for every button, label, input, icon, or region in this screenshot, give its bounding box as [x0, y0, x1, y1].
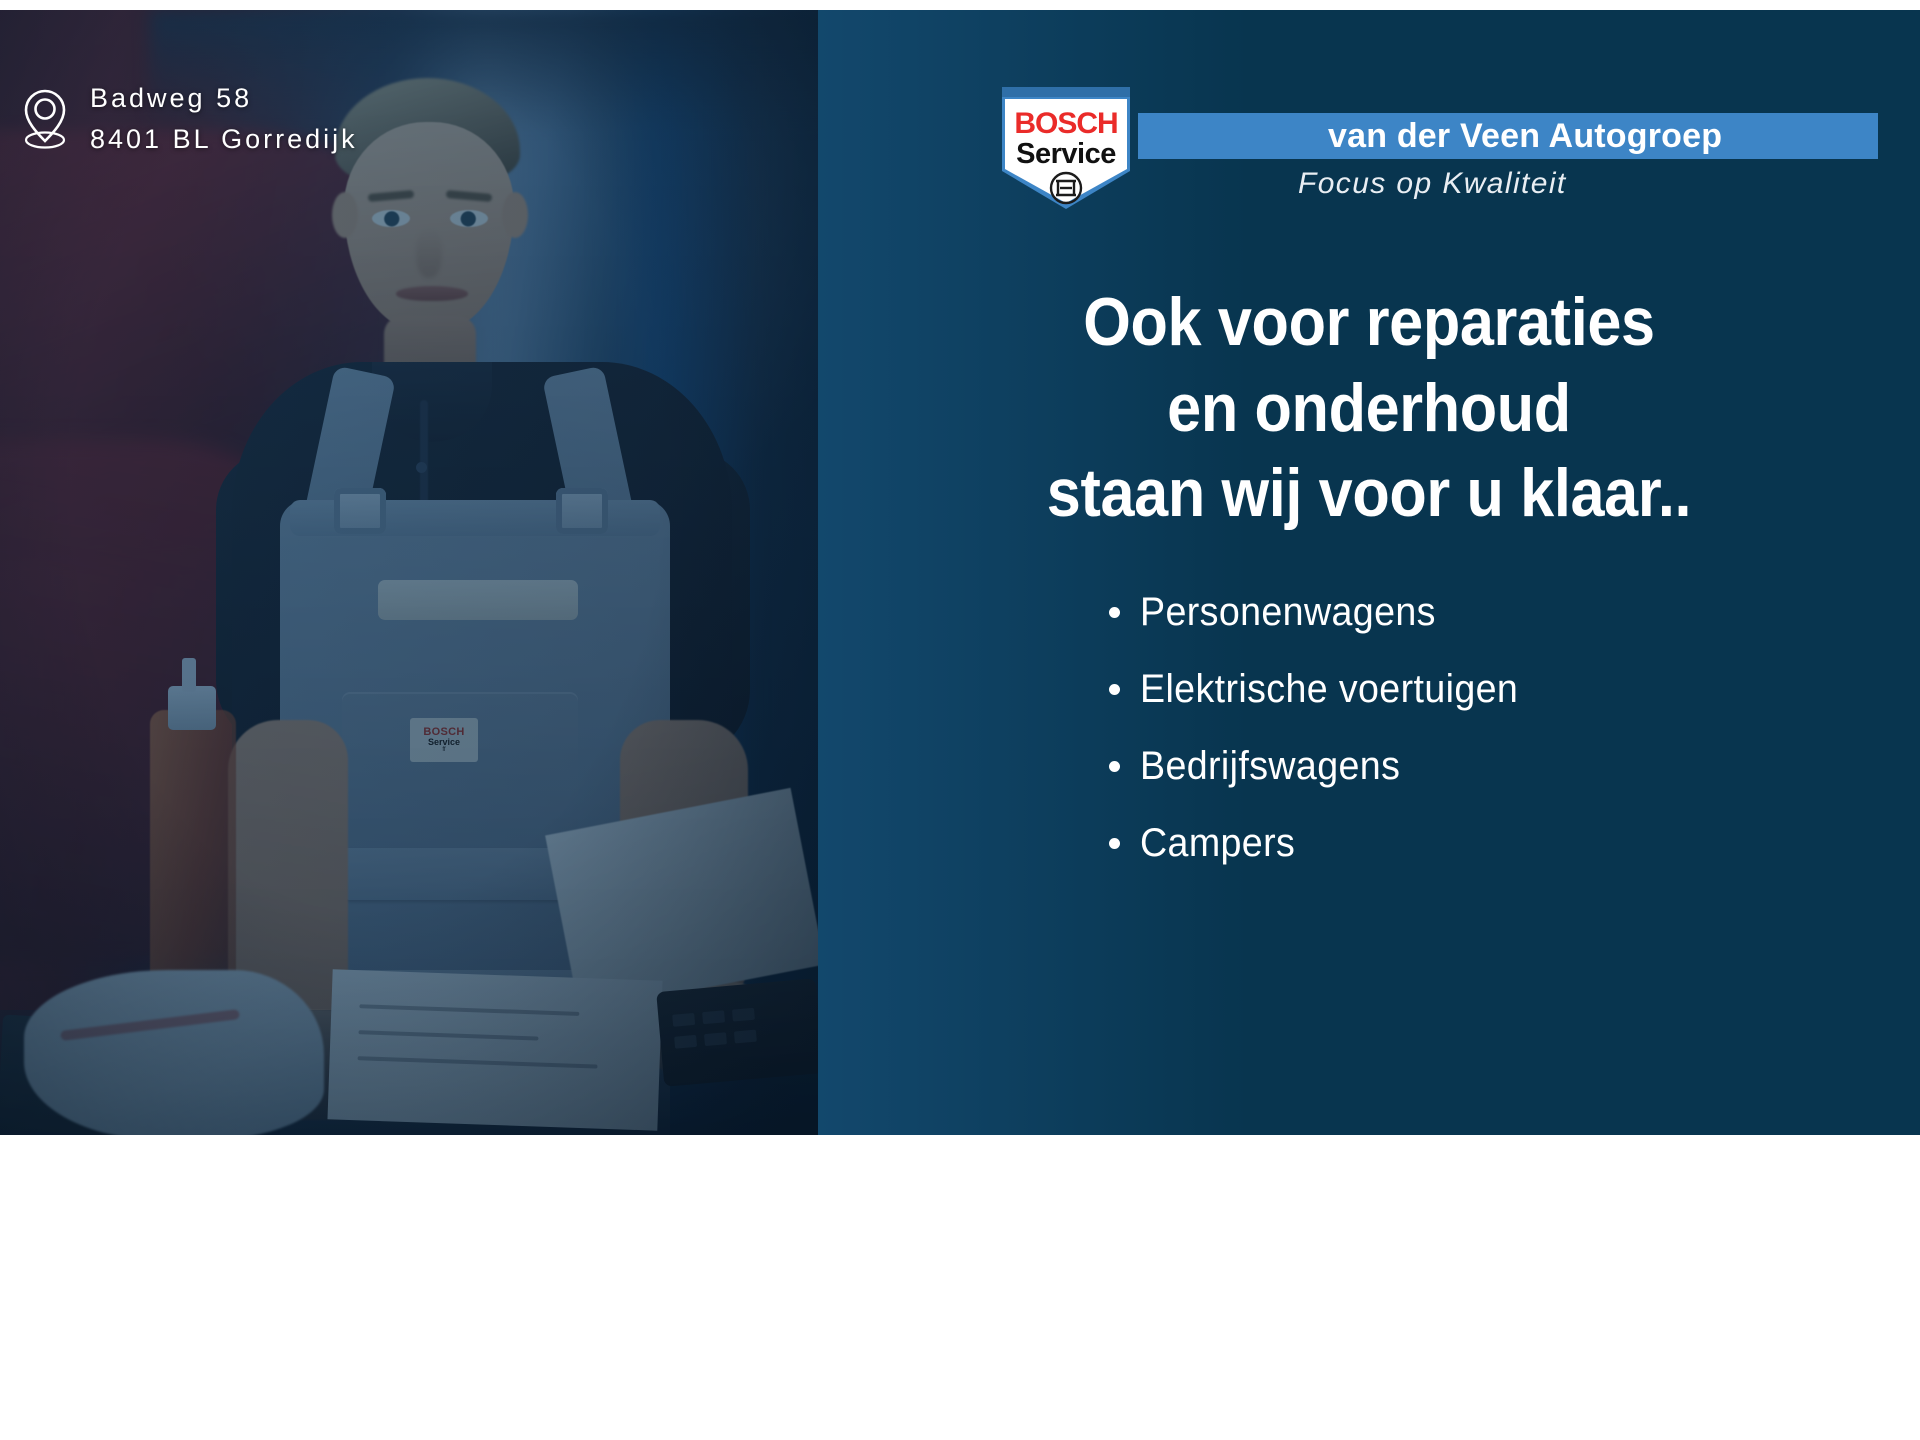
bosch-service-logo: BOSCH Service	[998, 85, 1134, 211]
bullet-dot-icon	[1109, 607, 1120, 618]
company-name: van der Veen Autogroep	[1328, 115, 1888, 157]
calculator	[656, 978, 818, 1087]
service-label: Elektrische voertuigen	[1140, 667, 1518, 712]
overall-pocket-flap	[342, 848, 578, 900]
mechanic-eye-left	[372, 210, 410, 227]
mechanic-ear-right	[502, 192, 528, 238]
mechanic-ear-left	[332, 192, 358, 238]
cleaning-rag	[24, 970, 324, 1135]
address-text: Badweg 58 8401 BL Gorredijk	[90, 78, 358, 160]
banner-stage: BOSCH Service ff	[0, 10, 1920, 1135]
paperwork-sheet-lower	[327, 969, 662, 1130]
overall-name-tag	[378, 580, 578, 620]
svg-text:BOSCH: BOSCH	[1014, 107, 1117, 140]
headline-line-1: Ook voor reparaties	[873, 280, 1865, 366]
mechanic-nose	[416, 228, 442, 278]
brand-lockup: van der Veen Autogroep Focus op Kwalitei…	[998, 85, 1878, 205]
list-item: Bedrijfswagens	[1109, 744, 1629, 789]
overall-buckle-left	[334, 488, 386, 534]
list-item: Elektrische voertuigen	[1109, 667, 1629, 712]
service-label: Campers	[1140, 821, 1295, 866]
service-label: Bedrijfswagens	[1140, 744, 1400, 789]
patch-line-3: ff	[442, 747, 445, 753]
list-item: Campers	[1109, 821, 1629, 866]
headline: Ook voor reparaties en onderhoud staan w…	[873, 280, 1865, 537]
headline-line-3: staan wij voor u klaar..	[873, 451, 1865, 537]
spray-bottle-nozzle	[182, 658, 196, 692]
polo-button-top	[416, 462, 427, 473]
service-label: Personenwagens	[1140, 590, 1436, 635]
bosch-service-patch: BOSCH Service ff	[410, 718, 478, 762]
paper-text-line	[359, 1004, 579, 1016]
paper-text-line	[358, 1056, 598, 1068]
advertisement-banner: BOSCH Service ff	[0, 0, 1920, 1440]
mechanic-mouth	[396, 286, 468, 301]
bullet-dot-icon	[1109, 838, 1120, 849]
svg-text:Service: Service	[1016, 138, 1116, 170]
headline-line-2: en onderhoud	[873, 366, 1865, 452]
mechanic-eye-right	[450, 210, 488, 227]
address-line-1: Badweg 58	[90, 78, 358, 119]
spray-bottle-cap	[168, 686, 216, 730]
bullet-dot-icon	[1109, 684, 1120, 695]
address-overlay: Badweg 58 8401 BL Gorredijk	[22, 78, 358, 160]
paper-text-line	[358, 1030, 538, 1040]
list-item: Personenwagens	[1109, 590, 1629, 635]
company-tagline: Focus op Kwaliteit	[1298, 167, 1567, 201]
patch-line-2: Service	[428, 738, 460, 747]
address-line-2: 8401 BL Gorredijk	[90, 119, 358, 160]
service-list: Personenwagens Elektrische voertuigen Be…	[818, 590, 1920, 866]
location-pin-icon	[22, 88, 68, 150]
overall-buckle-right	[556, 488, 608, 534]
mechanic-photo: BOSCH Service ff	[0, 10, 818, 1135]
bullet-dot-icon	[1109, 761, 1120, 772]
info-panel: van der Veen Autogroep Focus op Kwalitei…	[818, 10, 1920, 1135]
